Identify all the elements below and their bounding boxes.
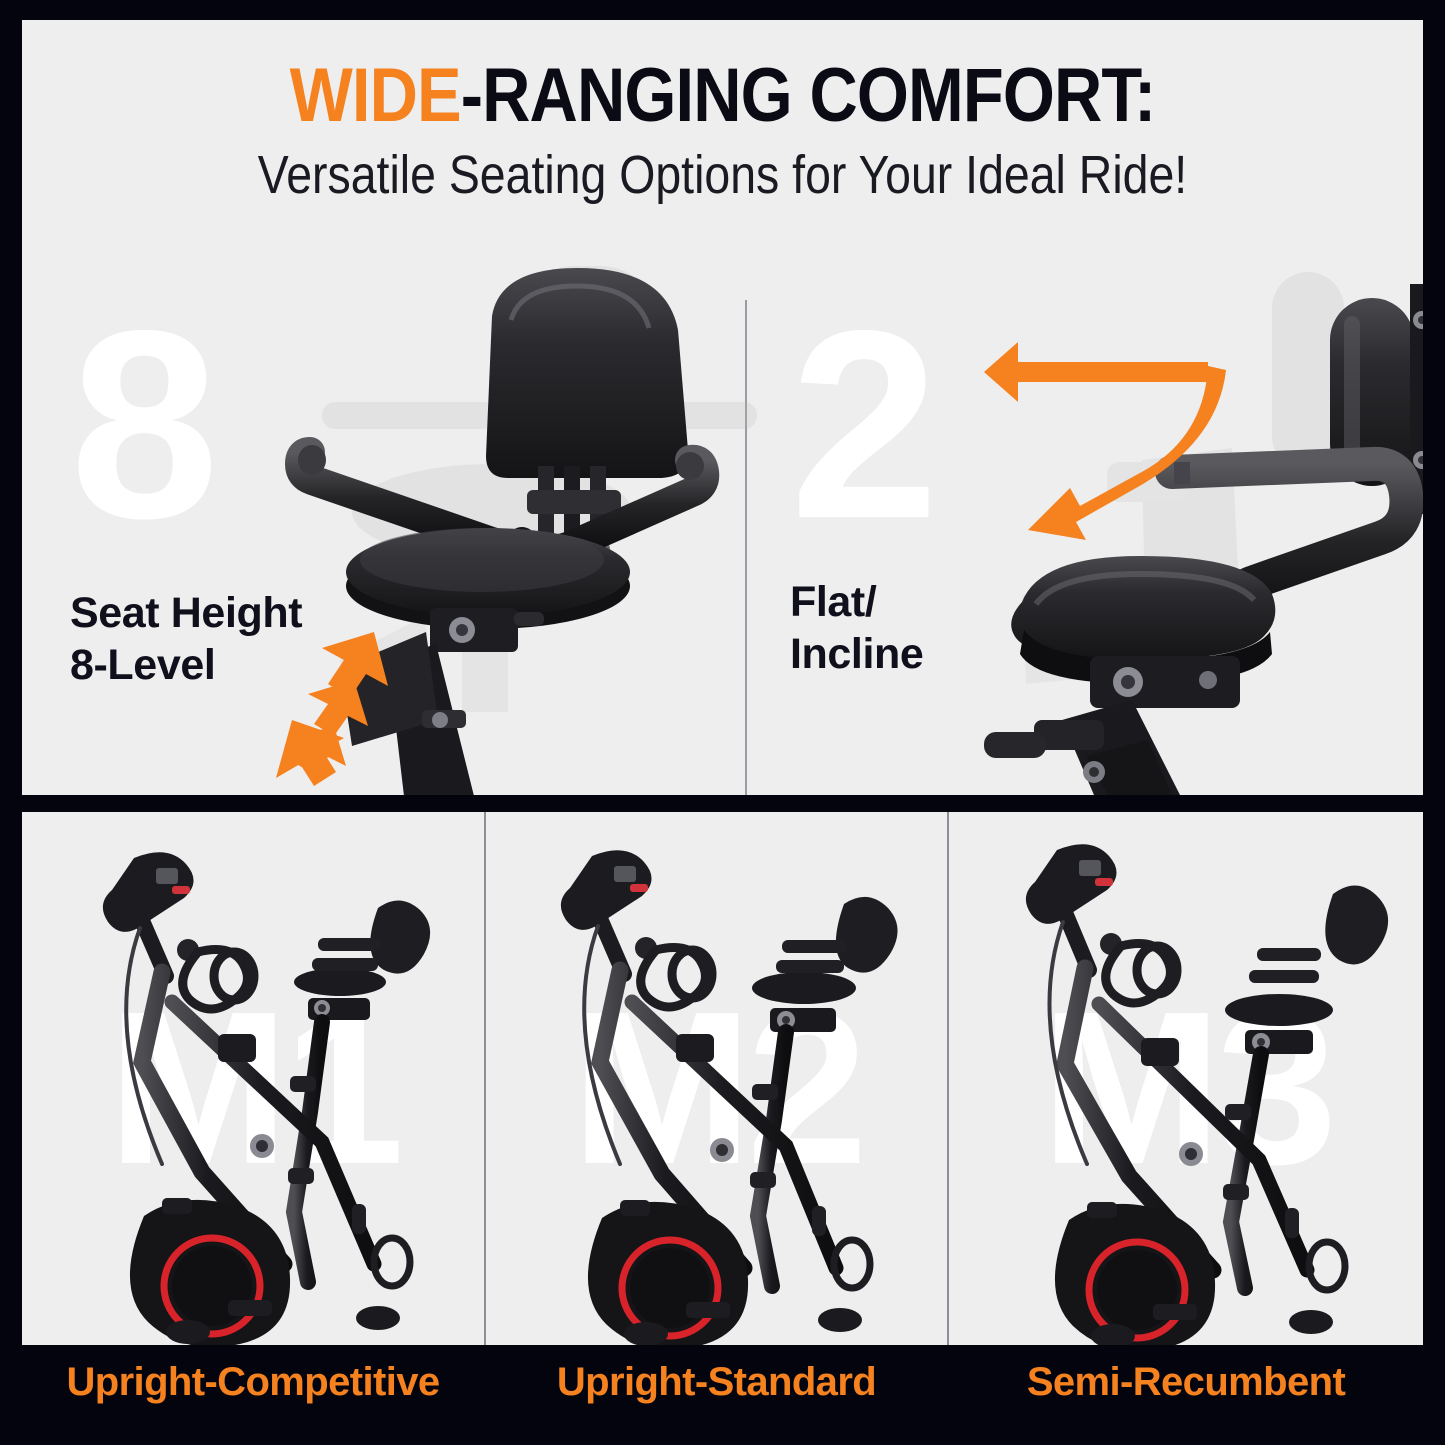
- flat-incline-illustration: [22, 20, 1423, 795]
- flywheel-housing-m3: [1055, 1204, 1215, 1345]
- bike-illustration-m3: [949, 812, 1423, 1345]
- flywheel-housing-m2: [588, 1202, 748, 1345]
- seat-assembly-m2: [752, 897, 898, 1032]
- bike-illustration-m2: [486, 812, 947, 1345]
- mode-panel-m3[interactable]: M3: [949, 812, 1423, 1345]
- mode-caption-m3: Semi-Recumbent: [949, 1360, 1423, 1405]
- resistance-band: [1100, 933, 1177, 1003]
- resistance-band: [177, 939, 254, 1009]
- seat-assembly-m3: [1225, 885, 1388, 1054]
- infographic-root: WIDE-RANGING COMFORT: Versatile Seating …: [0, 0, 1445, 1445]
- seat-post-frame-right: [984, 656, 1240, 795]
- modes-strip: M1: [22, 812, 1423, 1345]
- flywheel-housing-m1: [130, 1200, 290, 1345]
- mode-panel-m1[interactable]: M1: [22, 812, 484, 1345]
- mode-panel-m2[interactable]: M2: [486, 812, 947, 1345]
- mode-caption-m2: Upright-Standard: [486, 1360, 947, 1405]
- seat-assembly-m1: [294, 900, 430, 1020]
- resistance-band: [635, 937, 712, 1007]
- bike-illustration-m1: [22, 812, 484, 1345]
- mode-caption-m1: Upright-Competitive: [22, 1360, 484, 1405]
- top-feature-panel: WIDE-RANGING COMFORT: Versatile Seating …: [22, 20, 1423, 795]
